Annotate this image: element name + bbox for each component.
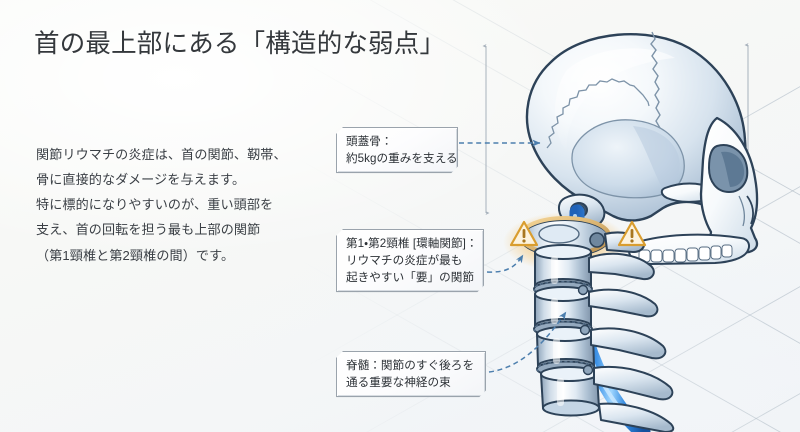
anatomy-illustration <box>455 0 800 432</box>
callout-skull-line-1: 頭蓋骨： <box>346 133 449 150</box>
warning-icon-left <box>511 222 537 245</box>
temporal-fossa-shade <box>633 126 680 189</box>
body-line-3: 特に標的になりやすいのが、重い頭部を <box>36 192 336 217</box>
connector-c1c2 <box>487 255 523 272</box>
connector-cord <box>489 312 566 372</box>
callout-cord-line-1: 脊髄：関節のすぐ後ろを <box>346 357 477 374</box>
spinal-cord-highlight <box>574 216 621 410</box>
orbit-socket <box>709 145 747 192</box>
body-line-2: 骨に直接的なダメージを与えます。 <box>36 167 336 192</box>
body-line-4: 支え、首の回転を担う最も上部の関節 <box>36 217 336 242</box>
skull-cranium <box>527 34 746 220</box>
callout-cord-line-2: 通る重要な神経の束 <box>346 374 477 391</box>
callout-skull-line-2: 約5kgの重みを支える <box>346 150 449 167</box>
atlanto-axial-glow <box>503 212 627 272</box>
nasal-aperture <box>747 196 753 224</box>
facet-joint-pins <box>579 286 593 375</box>
cranium-highlight <box>555 48 675 152</box>
orbit-inner-shadow <box>721 152 744 187</box>
body-line-1: 関節リウマチの炎症は、首の関節、靭帯、 <box>36 142 336 167</box>
spinal-cord <box>577 212 643 432</box>
atlanto-axial-joint <box>521 218 644 256</box>
callout-c1c2-line-1: 第1・第2頸椎 [環軸関節]： <box>346 235 475 252</box>
callout-c1c2-line-2: リウマチの炎症が最も <box>346 252 475 269</box>
skull-face <box>701 118 757 256</box>
callout-atlanto-axial[interactable]: 第1・第2頸椎 [環軸関節]： リウマチの炎症が最も 起きやすい「要」の関節 <box>336 229 484 292</box>
body-paragraph: 関節リウマチの炎症は、首の関節、靭帯、 骨に直接的なダメージを与えます。 特に標… <box>36 142 336 268</box>
column-highlight <box>551 256 564 406</box>
page-title: 首の最上部にある「構造的な弱点」 <box>34 28 445 61</box>
nasal-ridge <box>739 196 744 226</box>
body-line-5: （第1頸椎と第2頸椎の間）です。 <box>36 243 336 268</box>
temporal-bone <box>572 120 684 198</box>
maxilla-teeth <box>629 235 749 264</box>
cervical-vertebrae <box>534 245 673 432</box>
occipital-condyle <box>559 195 604 228</box>
squamous-suture <box>547 79 649 148</box>
callout-spinal-cord[interactable]: 脊髄：関節のすぐ後ろを 通る重要な神経の束 <box>336 351 486 397</box>
callout-c1c2-line-3: 起きやすい「要」の関節 <box>346 269 475 286</box>
zygomatic-arch <box>662 184 716 202</box>
slide-canvas: 首の最上部にある「構造的な弱点」 関節リウマチの炎症は、首の関節、靭帯、 骨に直… <box>0 0 800 432</box>
warning-icon-right <box>619 222 645 245</box>
coronal-suture <box>651 32 661 140</box>
callout-skull[interactable]: 頭蓋骨： 約5kgの重みを支える <box>336 127 458 173</box>
